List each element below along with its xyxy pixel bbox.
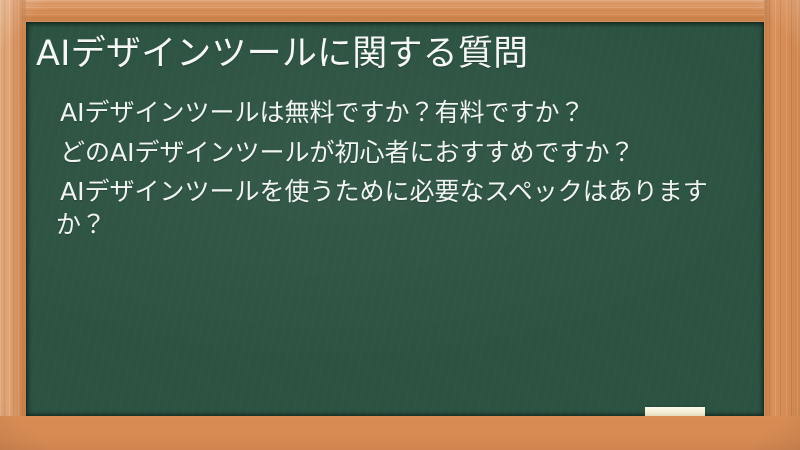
frame-rail-top [0,0,800,22]
chalk-stick-icon [645,407,705,416]
frame-rail-bottom [0,416,800,450]
chalkboard-surface: AIデザインツールに関する質問 AIデザインツールは無料ですか？有料ですか？ ど… [26,22,764,416]
question-list: AIデザインツールは無料ですか？有料ですか？ どのAIデザインツールが初心者にお… [34,97,748,241]
frame-rail-left [0,0,26,450]
question-item-3: AIデザインツールを使うために必要なスペックはありますか？ [56,176,722,241]
frame-rail-right [764,0,800,450]
chalkboard-slide: AIデザインツールに関する質問 AIデザインツールは無料ですか？有料ですか？ ど… [0,0,800,450]
board-content: AIデザインツールに関する質問 AIデザインツールは無料ですか？有料ですか？ ど… [26,22,764,241]
question-item-1: AIデザインツールは無料ですか？有料ですか？ [56,97,722,130]
question-item-2: どのAIデザインツールが初心者におすすめですか？ [56,137,722,170]
board-title: AIデザインツールに関する質問 [34,34,748,75]
